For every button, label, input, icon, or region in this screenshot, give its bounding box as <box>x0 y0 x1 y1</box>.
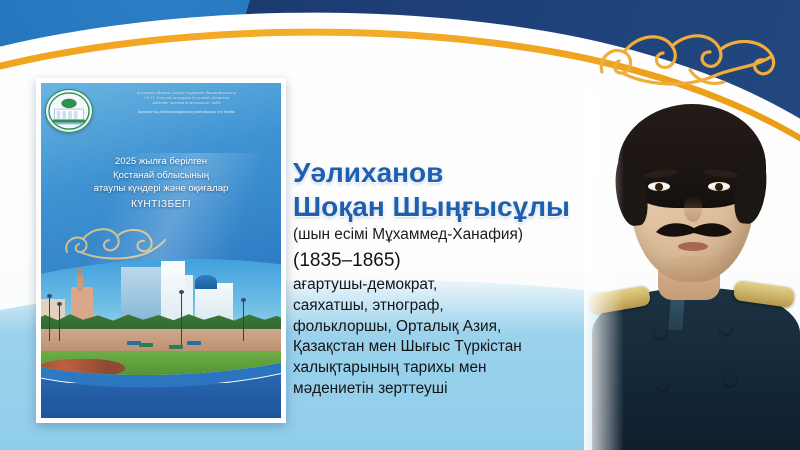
cover-title-line-3: атаулы күндері және оқиғалар <box>49 182 273 196</box>
description-line-2: саяхатшы, этнограф, <box>293 296 623 317</box>
subject-description: ағартушы-демократ, саяхатшы, этнограф, ф… <box>293 275 623 401</box>
subject-life-dates: (1835–1865) <box>293 250 623 273</box>
description-line-1: ағартушы-демократ, <box>293 275 623 296</box>
cover-title-line-1: 2025 жылға берілген <box>49 155 273 169</box>
cover-title-block: 2025 жылға берілген Қостанай облысының а… <box>41 155 281 212</box>
subject-given-name: Шоқан Шыңғысұлы <box>293 192 623 222</box>
cover-title-line-2: Қостанай облысының <box>49 169 273 183</box>
subject-surname: Уәлиханов <box>293 158 623 188</box>
slide-canvas: Қостанай облысы әкімдігі мәдениет басқар… <box>0 0 800 450</box>
cover-header: Қостанай облысы әкімдігі мәдениет басқар… <box>41 83 281 133</box>
cover-title-main: КҮНТІЗБЕГІ <box>49 198 273 212</box>
description-line-4: Қазақстан мен Шығыс Түркістан <box>293 337 623 358</box>
description-line-3: фольклоршы, Орталық Азия, <box>293 317 623 338</box>
calendar-booklet-cover[interactable]: Қостанай облысы әкімдігі мәдениет басқар… <box>36 78 286 423</box>
org-department: Ақпараттық-библиографиялық қамтамасыз ет… <box>98 110 275 115</box>
cover-city-photo <box>41 243 281 418</box>
kazakh-scroll-ornament-icon <box>594 10 794 98</box>
org-line-3: әмбебап ғылыми кітапханасы» КММ <box>98 101 275 106</box>
cover-organization-text: Қостанай облысы әкімдігі мәдениет басқар… <box>98 89 275 115</box>
description-line-6: мәдениетін зерттеуші <box>293 379 623 400</box>
library-emblem-icon <box>45 89 93 133</box>
description-line-5: халықтарының тарихы мен <box>293 358 623 379</box>
subject-info-block: Уәлиханов Шоқан Шыңғысұлы (шын есімі Мұх… <box>293 158 623 400</box>
subject-real-name: (шын есімі Мұхаммед-Ханафия) <box>293 226 623 244</box>
